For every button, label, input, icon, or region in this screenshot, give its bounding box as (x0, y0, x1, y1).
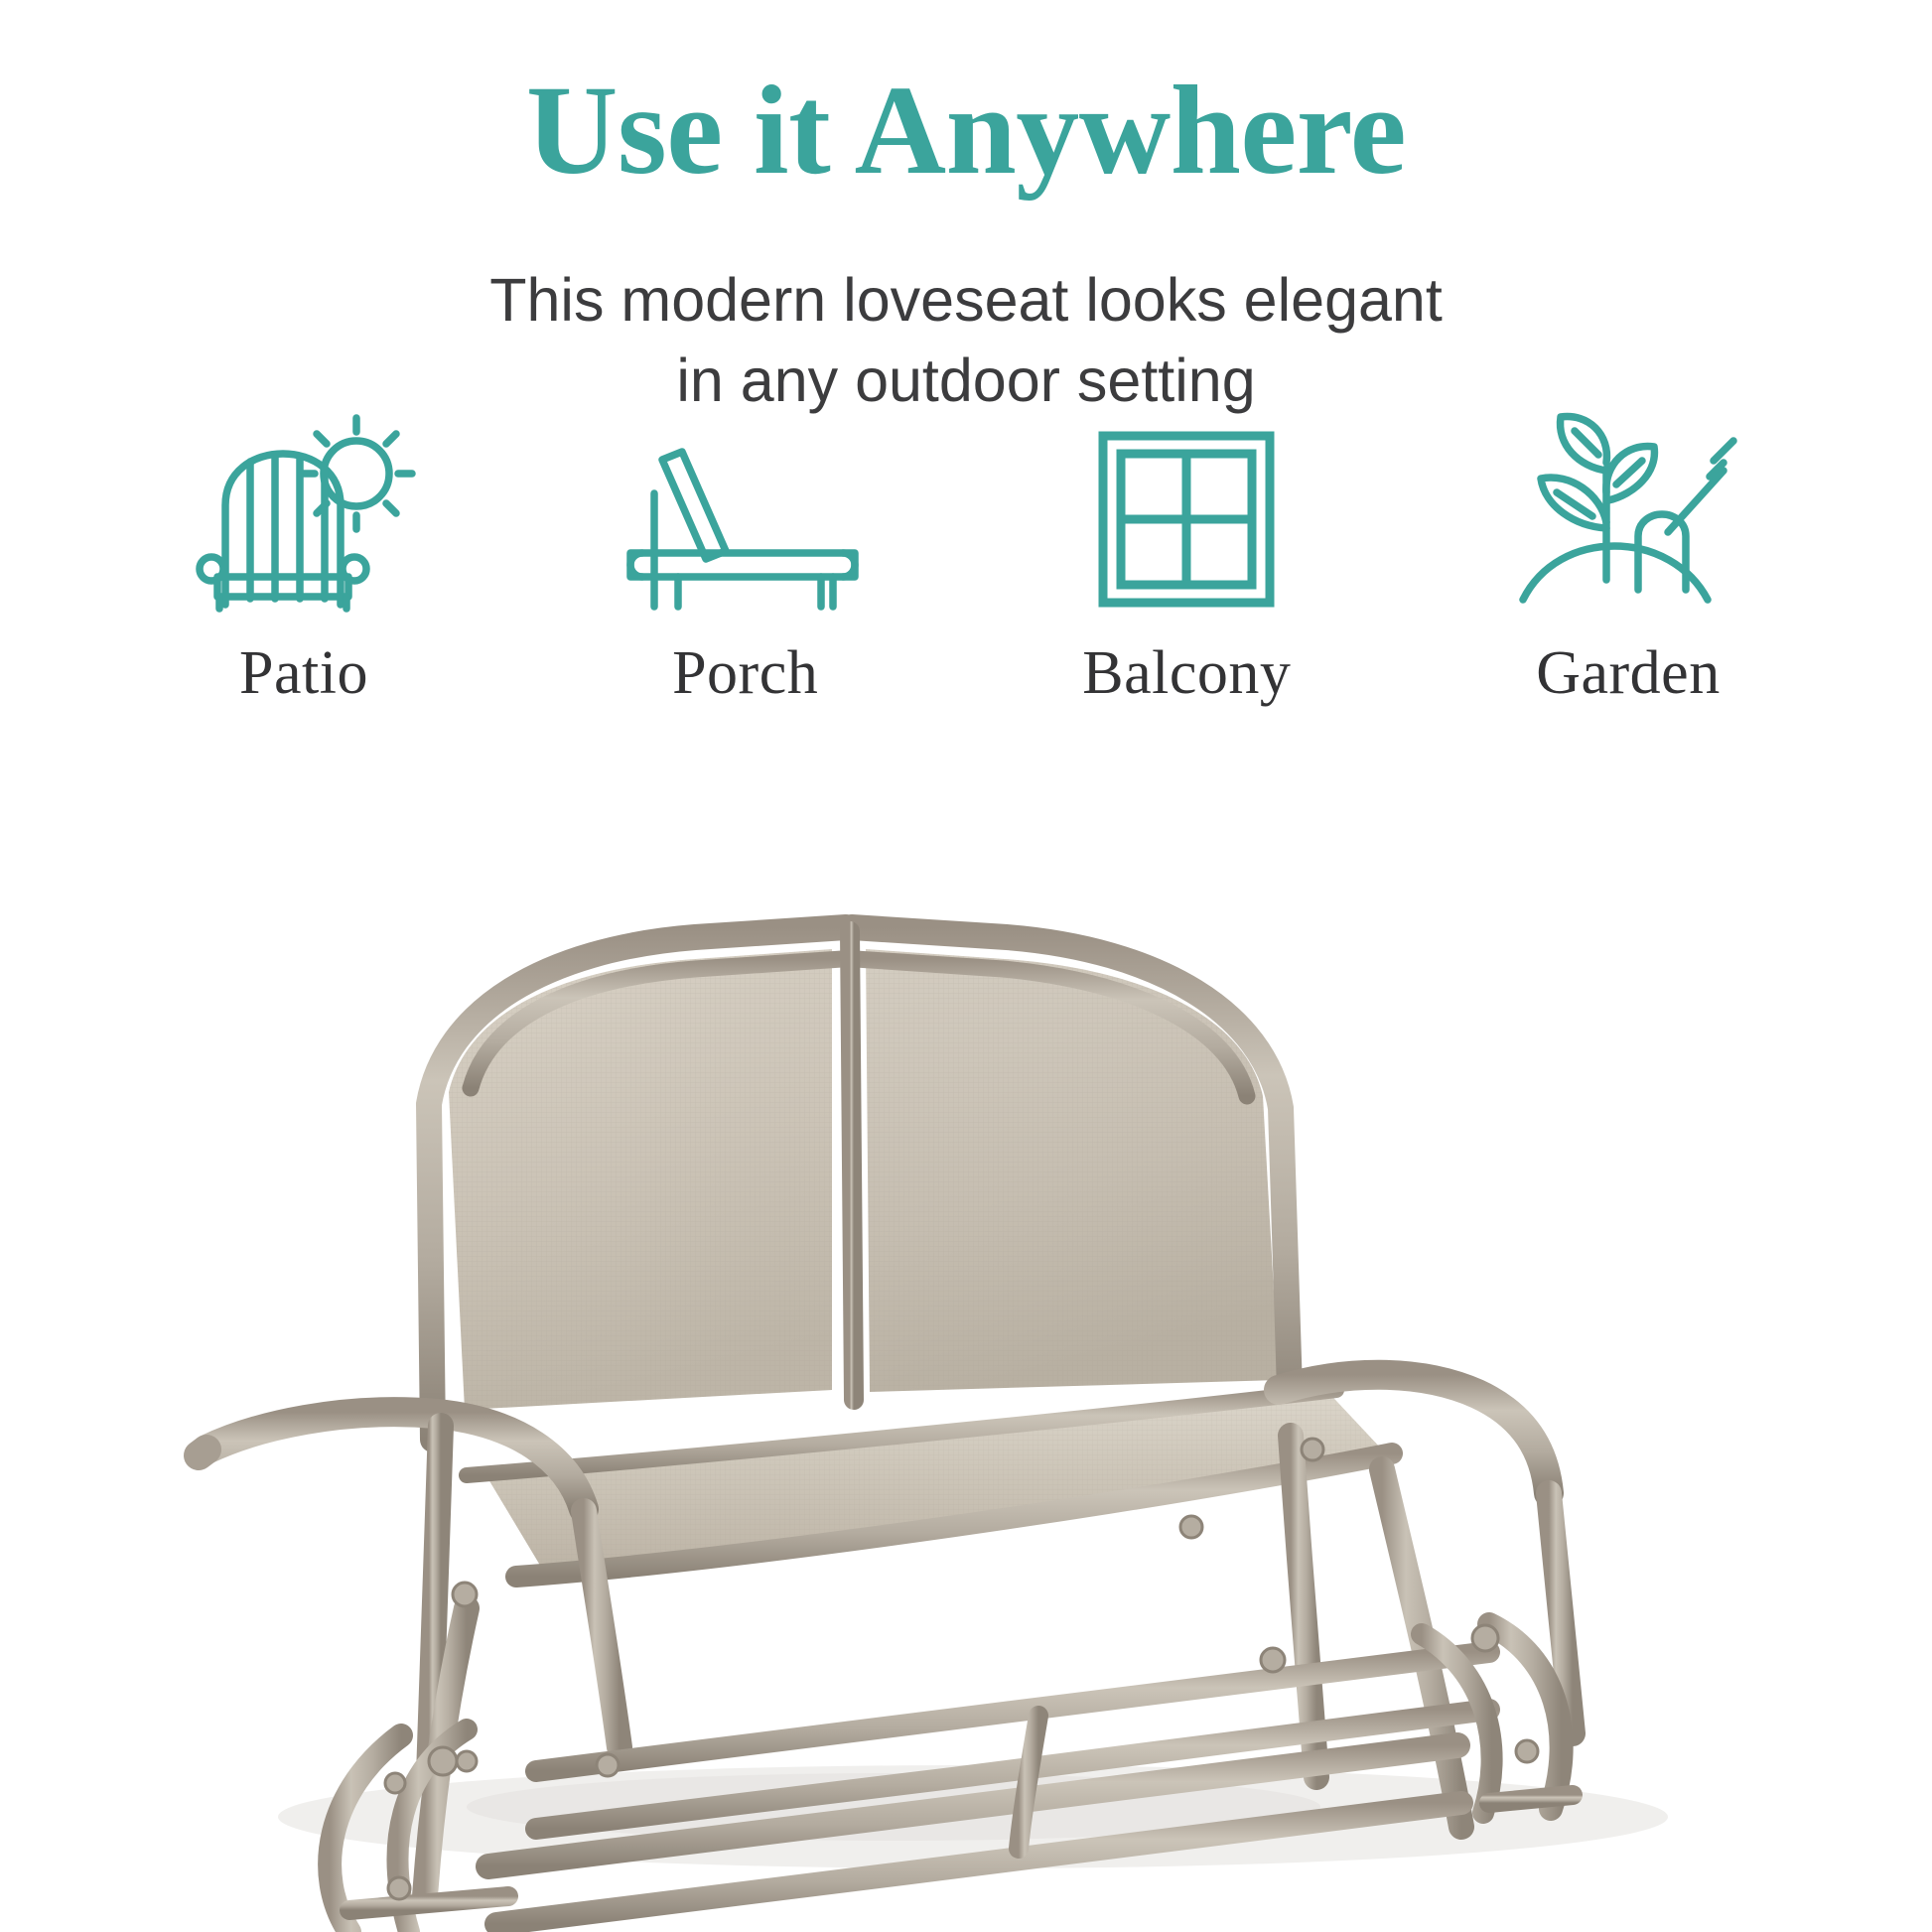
feature-item-garden: Garden (1420, 405, 1837, 704)
pivot-bolt (457, 1751, 477, 1771)
page-title: Use it Anywhere (0, 56, 1932, 206)
subtitle-line-1: This modern loveseat looks elegant (0, 260, 1932, 341)
feature-label-porch: Porch (672, 642, 818, 704)
marketing-infographic-page: Use it Anywhere This modern loveseat loo… (0, 0, 1932, 1932)
subtitle: This modern loveseat looks elegant in an… (0, 260, 1932, 420)
feature-item-patio: Patio (95, 405, 512, 704)
backrest-center-post (850, 931, 854, 1400)
feature-label-balcony: Balcony (1082, 642, 1291, 704)
chaise-lounge-chair-icon (631, 405, 860, 609)
feature-item-porch: Porch (537, 405, 954, 704)
pivot-bolt (388, 1877, 410, 1899)
feature-icon-row: Patio (95, 405, 1837, 704)
pivot-bolt (597, 1754, 619, 1776)
feature-item-balcony: Balcony (978, 405, 1395, 704)
seat-hinge-bolt (1180, 1516, 1202, 1538)
adirondack-chair-sun-icon (190, 405, 418, 609)
pivot-bolt (429, 1747, 457, 1775)
seat-hinge-bolt (453, 1583, 477, 1606)
glider-loveseat-illustration (0, 755, 1932, 1932)
pivot-bolt (1261, 1648, 1285, 1672)
pivot-bolt (1516, 1740, 1538, 1762)
plant-trowel-icon (1514, 405, 1742, 609)
feature-label-garden: Garden (1536, 642, 1720, 704)
product-image (0, 755, 1932, 1932)
window-four-pane-icon (1072, 405, 1301, 609)
pivot-bolt (385, 1773, 405, 1793)
feature-label-patio: Patio (239, 642, 368, 704)
pivot-bolt (1472, 1625, 1498, 1651)
seat-hinge-bolt (1302, 1439, 1323, 1460)
